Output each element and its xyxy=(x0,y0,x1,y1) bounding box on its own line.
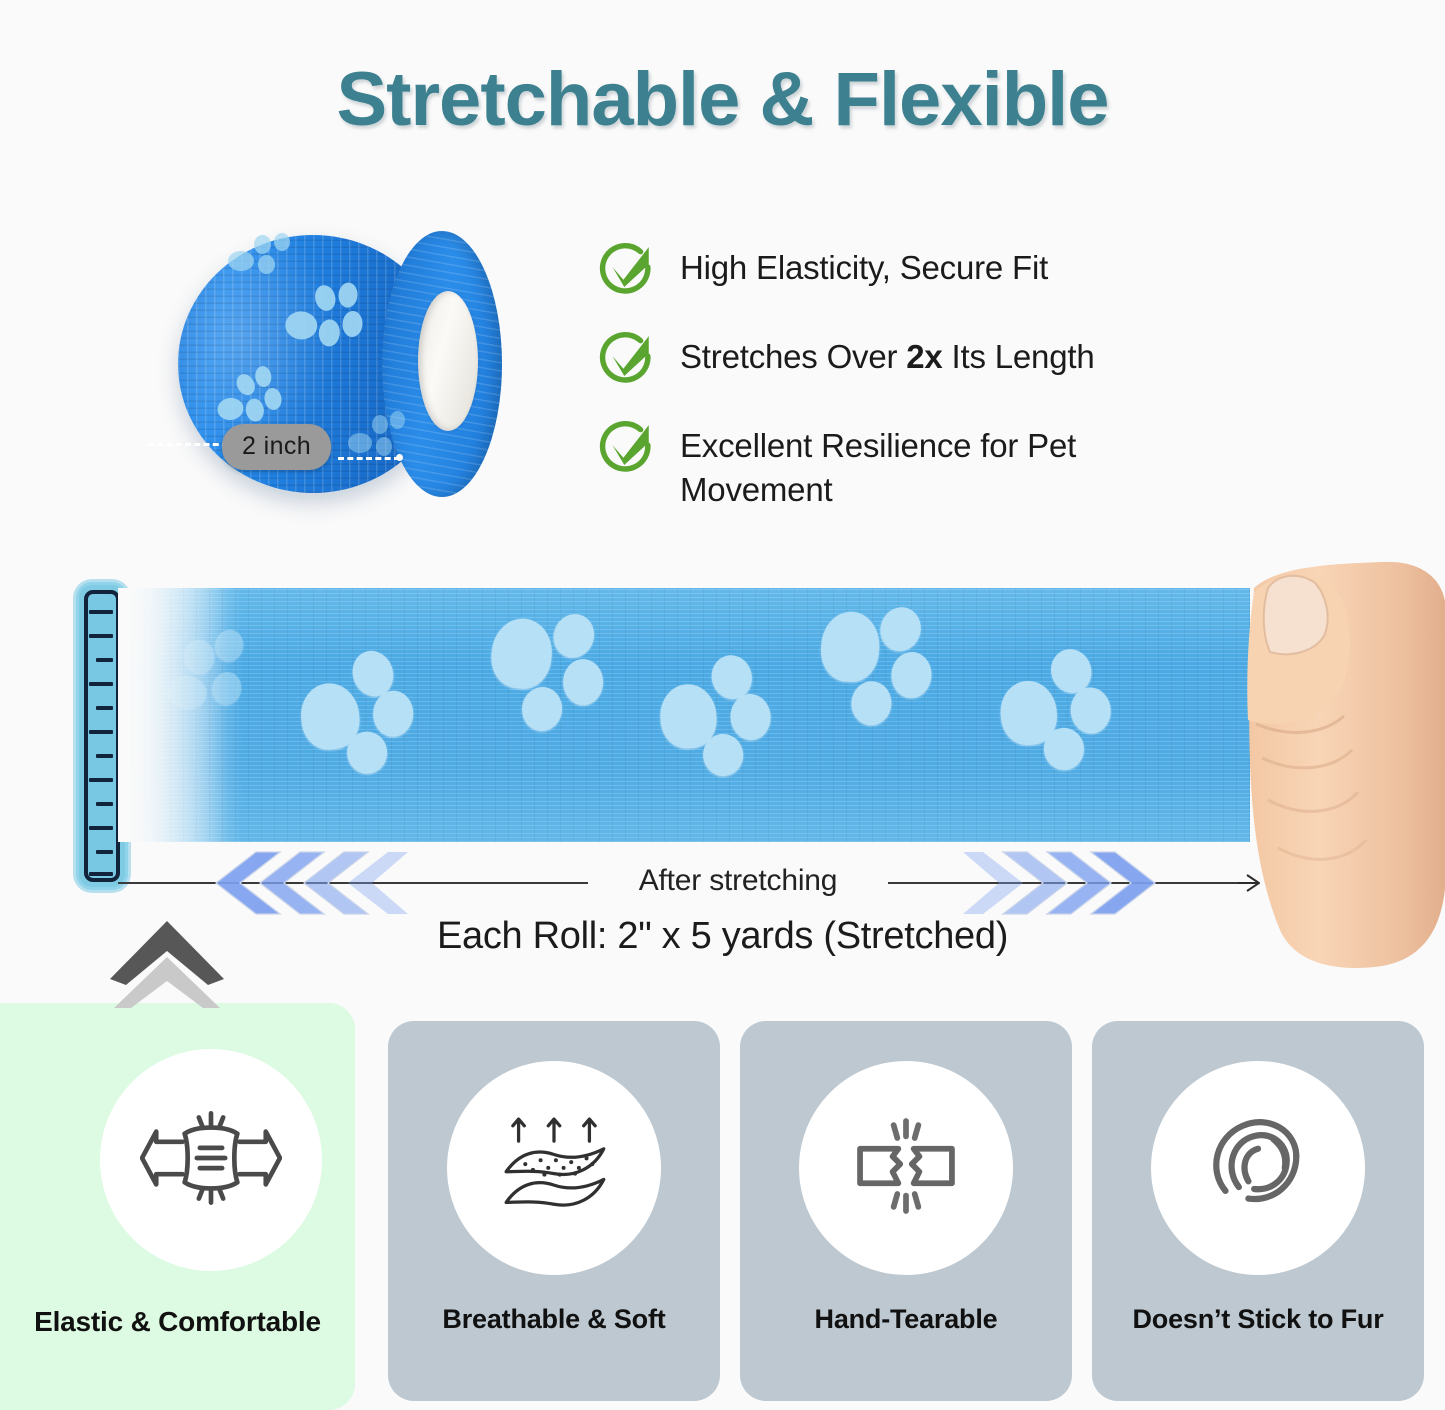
measure-endpoint xyxy=(396,454,403,461)
paw-print xyxy=(294,640,427,768)
benefit-item: Stretches Over 2x Its Length xyxy=(598,332,1198,386)
check-circle-icon xyxy=(598,328,656,386)
benefit-label: Stretches Over 2x Its Length xyxy=(680,332,1094,379)
benefits-list: High Elasticity, Secure Fit Stretches Ov… xyxy=(598,243,1198,546)
feature-card-label: Breathable & Soft xyxy=(388,1304,720,1335)
paw-print xyxy=(210,360,292,434)
check-circle-icon xyxy=(598,239,656,297)
ruler-body xyxy=(84,590,120,882)
feature-card-breathable[interactable]: Breathable & Soft xyxy=(388,1021,720,1401)
product-roll-image: 2 inch xyxy=(160,225,540,515)
feature-card-elastic[interactable]: Elastic & Comfortable xyxy=(0,1003,355,1410)
icon-circle xyxy=(447,1061,661,1275)
feature-card-no-stick-fur[interactable]: Doesn’t Stick to Fur xyxy=(1092,1021,1424,1401)
stretch-direction-row: After stretching xyxy=(118,848,1258,918)
torn-tape-icon xyxy=(839,1099,973,1238)
chevrons-left-icon xyxy=(208,848,408,918)
paw-print xyxy=(816,602,950,730)
chevron-up-double-icon xyxy=(108,913,226,1008)
benefit-item: Excellent Resilience for Pet Movement xyxy=(598,421,1198,511)
benefit-emphasis: 2x xyxy=(906,338,942,375)
benefit-item: High Elasticity, Secure Fit xyxy=(598,243,1198,297)
feature-card-label: Hand-Tearable xyxy=(740,1304,1072,1335)
feature-cards: Elastic & Comfortable xyxy=(0,1003,1445,1410)
hand-gripping-icon xyxy=(1232,552,1445,972)
paw-print xyxy=(656,648,786,772)
page-title: Stretchable & Flexible xyxy=(0,56,1445,143)
benefit-label: Excellent Resilience for Pet Movement xyxy=(680,421,1115,511)
paw-print xyxy=(228,233,294,279)
roll-width-badge: 2 inch xyxy=(222,424,331,470)
roll-core xyxy=(418,291,478,431)
icon-circle xyxy=(100,1049,322,1271)
icon-circle xyxy=(799,1061,1013,1275)
paw-print xyxy=(279,274,368,358)
fur-strands-icon xyxy=(1191,1099,1325,1238)
check-circle-icon xyxy=(598,417,656,475)
chevrons-right-icon xyxy=(963,848,1163,918)
band-fade-left xyxy=(118,588,228,842)
breathable-fabric-icon xyxy=(487,1099,621,1238)
paw-print xyxy=(995,641,1127,767)
measure-guide-left xyxy=(148,443,228,446)
measure-guide-right xyxy=(338,457,400,460)
infographic-page: Stretchable & Flexible xyxy=(0,0,1445,1410)
icon-circle xyxy=(1151,1061,1365,1275)
benefit-label: High Elasticity, Secure Fit xyxy=(680,243,1048,290)
after-stretching-label: After stretching xyxy=(588,864,888,898)
stretch-arrows-icon xyxy=(140,1087,282,1234)
feature-card-label: Doesn’t Stick to Fur xyxy=(1092,1304,1424,1335)
paw-print xyxy=(484,606,624,739)
feature-card-hand-tearable[interactable]: Hand-Tearable xyxy=(740,1021,1072,1401)
feature-card-label: Elastic & Comfortable xyxy=(0,1306,355,1338)
